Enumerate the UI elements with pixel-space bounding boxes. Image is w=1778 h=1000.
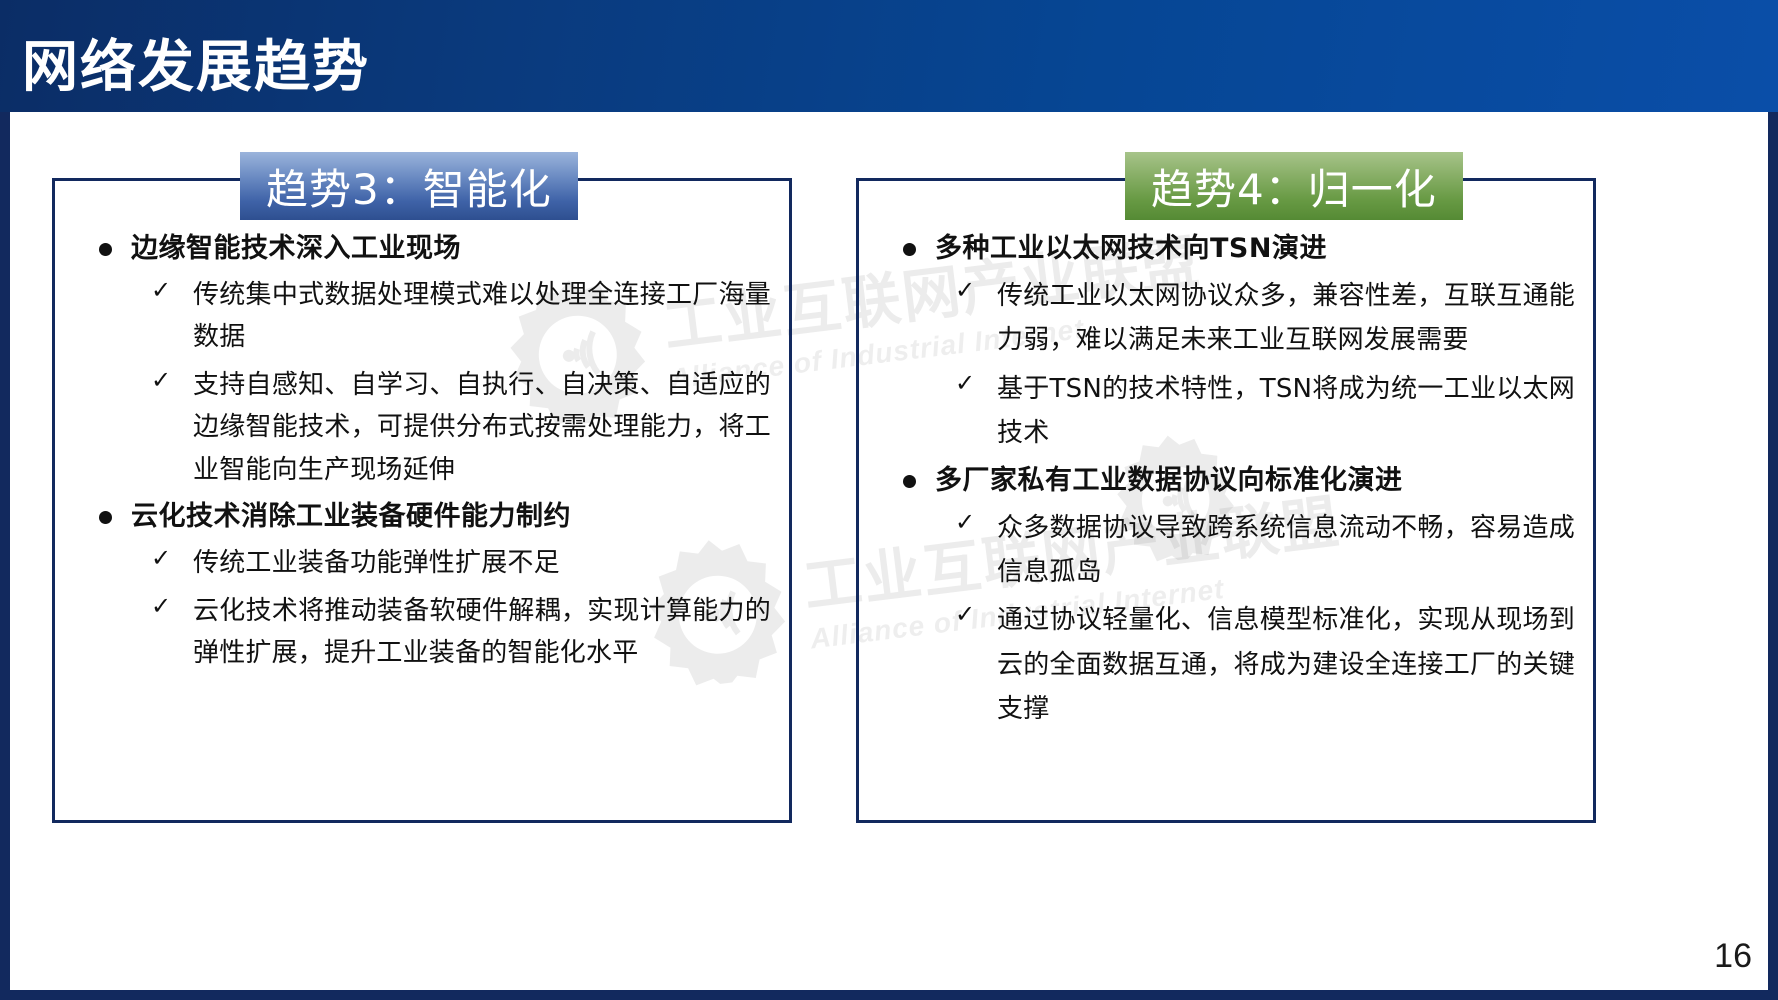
trend-panel-right: 多种工业以太网技术向TSN演进 ✓ 传统工业以太网协议众多，兼容性差，互联互通能… [856, 178, 1596, 823]
slide-header-bar: 网络发展趋势 [0, 0, 1778, 112]
list-item: 云化技术消除工业装备硬件能力制约 ✓ 传统工业装备功能弹性扩展不足 ✓ 云化技术… [73, 497, 771, 674]
list-item: ✓ 传统工业以太网协议众多，兼容性差，互联互通能力弱，难以满足未来工业互联网发展… [935, 274, 1575, 362]
list-item: ✓ 云化技术将推动装备软硬件解耦，实现计算能力的弹性扩展，提升工业装备的智能化水… [131, 590, 771, 674]
page-number: 16 [1714, 937, 1752, 976]
bullet-subtext: 传统工业装备功能弹性扩展不足 [193, 542, 771, 584]
check-icon: ✓ [151, 278, 171, 302]
list-item: 多厂家私有工业数据协议向标准化演进 ✓ 众多数据协议导致跨系统信息流动不畅，容易… [877, 461, 1575, 731]
bullet-subtext: 云化技术将推动装备软硬件解耦，实现计算能力的弹性扩展，提升工业装备的智能化水平 [193, 590, 771, 674]
bullet-subtext: 传统工业以太网协议众多，兼容性差，互联互通能力弱，难以满足未来工业互联网发展需要 [997, 274, 1575, 362]
bullet-list-level2: ✓ 传统集中式数据处理模式难以处理全连接工厂海量数据 ✓ 支持自感知、自学习、自… [131, 274, 771, 491]
bullet-heading: 多厂家私有工业数据协议向标准化演进 [935, 461, 1575, 500]
bullet-dot-icon [99, 511, 112, 524]
bullet-list-level2: ✓ 传统工业以太网协议众多，兼容性差，互联互通能力弱，难以满足未来工业互联网发展… [935, 274, 1575, 455]
check-icon: ✓ [151, 368, 171, 392]
list-item: ✓ 传统集中式数据处理模式难以处理全连接工厂海量数据 [131, 274, 771, 358]
list-item: ✓ 基于TSN的技术特性，TSN将成为统一工业以太网技术 [935, 367, 1575, 455]
bullet-dot-icon [903, 243, 916, 256]
bullet-heading: 多种工业以太网技术向TSN演进 [935, 229, 1575, 268]
bullet-subtext: 通过协议轻量化、信息模型标准化，实现从现场到云的全面数据互通，将成为建设全连接工… [997, 598, 1575, 731]
list-item: ✓ 通过协议轻量化、信息模型标准化，实现从现场到云的全面数据互通，将成为建设全连… [935, 598, 1575, 731]
check-icon: ✓ [955, 278, 975, 302]
bullet-list-level1: 边缘智能技术深入工业现场 ✓ 传统集中式数据处理模式难以处理全连接工厂海量数据 … [73, 229, 771, 674]
check-icon: ✓ [955, 602, 975, 626]
page-title: 网络发展趋势 [22, 22, 370, 103]
bullet-dot-icon [903, 475, 916, 488]
trend-panel-left-body: 边缘智能技术深入工业现场 ✓ 传统集中式数据处理模式难以处理全连接工厂海量数据 … [55, 181, 789, 820]
bullet-subtext: 基于TSN的技术特性，TSN将成为统一工业以太网技术 [997, 367, 1575, 455]
check-icon: ✓ [955, 510, 975, 534]
check-icon: ✓ [151, 594, 171, 618]
check-icon: ✓ [955, 371, 975, 395]
bullet-heading: 云化技术消除工业装备硬件能力制约 [131, 497, 771, 536]
bullet-subtext: 众多数据协议导致跨系统信息流动不畅，容易造成信息孤岛 [997, 506, 1575, 594]
slide-frame-left-border [0, 0, 10, 1000]
trend-badge-left: 趋势3：智能化 [240, 152, 578, 220]
bullet-list-level1: 多种工业以太网技术向TSN演进 ✓ 传统工业以太网协议众多，兼容性差，互联互通能… [877, 229, 1575, 731]
slide-frame-bottom-border [0, 990, 1778, 1000]
list-item: 边缘智能技术深入工业现场 ✓ 传统集中式数据处理模式难以处理全连接工厂海量数据 … [73, 229, 771, 491]
bullet-subtext: 传统集中式数据处理模式难以处理全连接工厂海量数据 [193, 274, 771, 358]
bullet-subtext: 支持自感知、自学习、自执行、自决策、自适应的边缘智能技术，可提供分布式按需处理能… [193, 364, 771, 490]
trend-panel-right-body: 多种工业以太网技术向TSN演进 ✓ 传统工业以太网协议众多，兼容性差，互联互通能… [859, 181, 1593, 820]
list-item: ✓ 传统工业装备功能弹性扩展不足 [131, 542, 771, 584]
bullet-list-level2: ✓ 传统工业装备功能弹性扩展不足 ✓ 云化技术将推动装备软硬件解耦，实现计算能力… [131, 542, 771, 674]
trend-badge-right: 趋势4：归一化 [1125, 152, 1463, 220]
list-item: 多种工业以太网技术向TSN演进 ✓ 传统工业以太网协议众多，兼容性差，互联互通能… [877, 229, 1575, 455]
check-icon: ✓ [151, 546, 171, 570]
list-item: ✓ 众多数据协议导致跨系统信息流动不畅，容易造成信息孤岛 [935, 506, 1575, 594]
bullet-dot-icon [99, 243, 112, 256]
list-item: ✓ 支持自感知、自学习、自执行、自决策、自适应的边缘智能技术，可提供分布式按需处… [131, 364, 771, 490]
bullet-list-level2: ✓ 众多数据协议导致跨系统信息流动不畅，容易造成信息孤岛 ✓ 通过协议轻量化、信… [935, 506, 1575, 731]
bullet-heading: 边缘智能技术深入工业现场 [131, 229, 771, 268]
slide-canvas: 网络发展趋势 工业互联网产业联盟 Alliance of Industrial … [0, 0, 1778, 1000]
slide-frame-right-border [1768, 0, 1778, 1000]
trend-panel-left: 边缘智能技术深入工业现场 ✓ 传统集中式数据处理模式难以处理全连接工厂海量数据 … [52, 178, 792, 823]
